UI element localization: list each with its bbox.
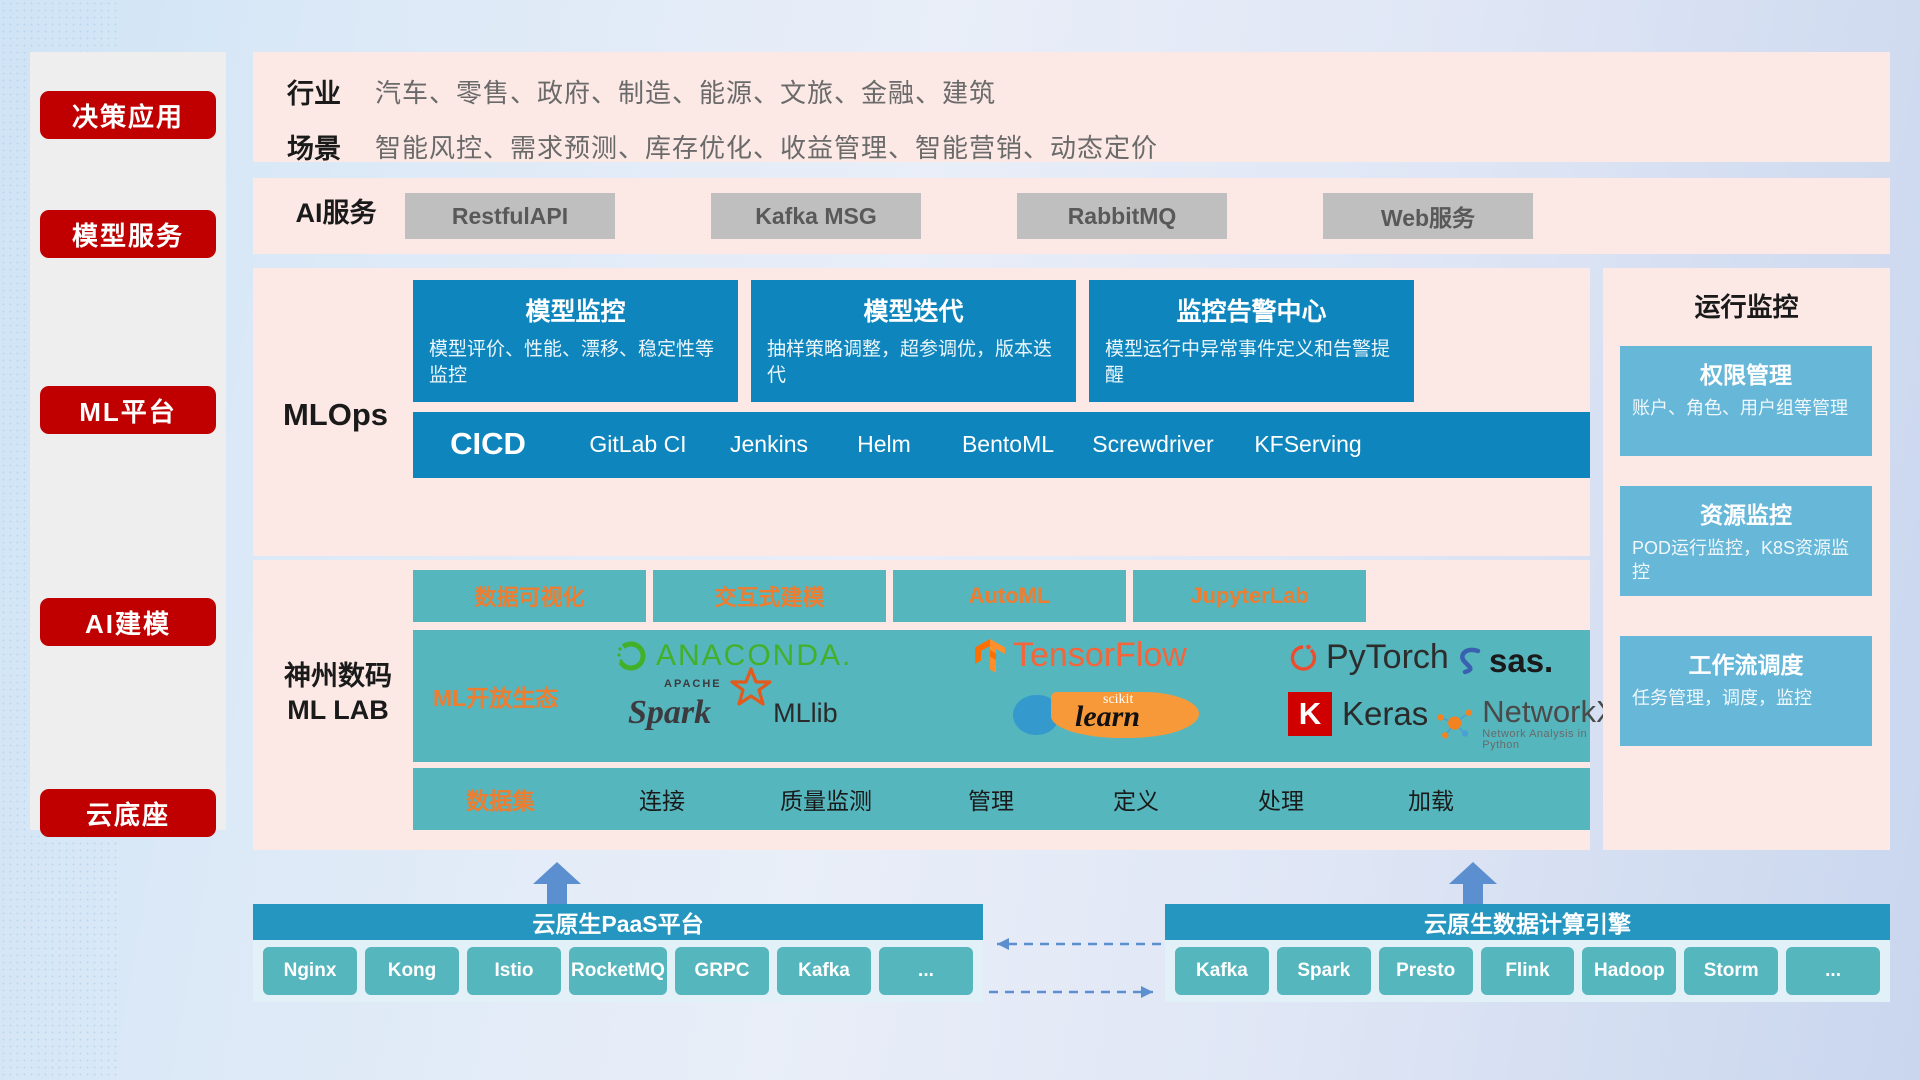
ml-lab-band: 神州数码 ML LAB 数据可视化 交互式建模 AutoML JupyterLa… (253, 560, 1590, 850)
paas-chip-grpc[interactable]: GRPC (675, 947, 769, 995)
lab-tab-automl[interactable]: AutoML (893, 570, 1126, 622)
mlops-card-model-monitoring[interactable]: 模型监控 模型评价、性能、漂移、稳定性等监控 (413, 280, 738, 402)
scenario-row-scene: 场景 智能风控、需求预测、库存优化、收益管理、智能营销、动态定价 (253, 127, 1890, 166)
lab-tab-interactive-modeling[interactable]: 交互式建模 (653, 570, 886, 622)
monitor-card-permission[interactable]: 权限管理 账户、角色、用户组等管理 (1620, 346, 1872, 456)
monitor-card-resource[interactable]: 资源监控 POD运行监控，K8S资源监控 (1620, 486, 1872, 596)
cicd-tool-jenkins[interactable]: Jenkins (713, 412, 825, 459)
mlops-card-desc: 抽样策略调整，超参调优，版本迭代 (767, 337, 1060, 388)
cicd-label: CICD (413, 412, 563, 462)
architecture-main: 行业 汽车、零售、政府、制造、能源、文旅、金融、建筑 场景 智能风控、需求预测、… (253, 0, 1890, 1080)
paas-group: 云原生PaaS平台 Nginx Kong Istio RocketMQ GRPC… (253, 904, 983, 1002)
engine-group: 云原生数据计算引擎 Kafka Spark Presto Flink Hadoo… (1165, 904, 1890, 1002)
lab-tab-jupyterlab[interactable]: JupyterLab (1133, 570, 1366, 622)
ai-chip-web[interactable]: Web服务 (1323, 193, 1533, 239)
anaconda-icon (613, 638, 649, 674)
logo-scikit-learn: scikit learn (1013, 692, 1199, 738)
stage-rail: 决策应用 模型服务 ML平台 AI建模 云底座 (30, 52, 226, 830)
networkx-graph-icon (1433, 703, 1476, 745)
paas-chip-kafka[interactable]: Kafka (777, 947, 871, 995)
mlops-card-alert-center[interactable]: 监控告警中心 模型运行中异常事件定义和告警提醒 (1089, 280, 1414, 402)
stage-chip-decision[interactable]: 决策应用 (40, 91, 216, 139)
scenario-band: 行业 汽车、零售、政府、制造、能源、文旅、金融、建筑 场景 智能风控、需求预测、… (253, 52, 1890, 162)
engine-chip-presto[interactable]: Presto (1379, 947, 1473, 995)
cicd-tool-kfserving[interactable]: KFServing (1233, 412, 1383, 459)
mlops-card-title: 监控告警中心 (1105, 292, 1398, 328)
logo-pytorch: PyTorch (1288, 638, 1449, 677)
dataset-item-load[interactable]: 加载 (1356, 782, 1506, 816)
keras-badge-icon: K (1288, 692, 1332, 736)
logo-networkx: NetworkX Network Analysis in Python (1433, 696, 1619, 751)
pytorch-wordmark: PyTorch (1326, 638, 1449, 677)
arrow-up-engine-icon (1447, 862, 1499, 904)
engine-chip-kafka[interactable]: Kafka (1175, 947, 1269, 995)
networkx-wordmark: NetworkX (1482, 696, 1619, 727)
ai-chip-restful[interactable]: RestfulAPI (405, 193, 615, 239)
learn-wordmark: learn (1075, 700, 1140, 734)
sas-icon (1453, 644, 1487, 678)
logo-tensorflow: TensorFlow (973, 636, 1187, 675)
sas-wordmark: sas. (1489, 642, 1553, 680)
monitor-title: 运行监控 (1603, 287, 1890, 324)
cicd-tool-gitlab[interactable]: GitLab CI (563, 412, 713, 459)
monitor-card-workflow[interactable]: 工作流调度 任务管理，调度，监控 (1620, 636, 1872, 746)
mlops-card-model-iteration[interactable]: 模型迭代 抽样策略调整，超参调优，版本迭代 (751, 280, 1076, 402)
ai-service-label: AI服务 (276, 197, 396, 231)
logo-sas: sas. (1453, 642, 1553, 680)
mlops-card-desc: 模型运行中异常事件定义和告警提醒 (1105, 337, 1398, 388)
lab-tab-visualization[interactable]: 数据可视化 (413, 570, 646, 622)
paas-chip-nginx[interactable]: Nginx (263, 947, 357, 995)
monitor-card-desc: 任务管理，调度，监控 (1632, 686, 1860, 710)
scenario-value-industry: 汽车、零售、政府、制造、能源、文旅、金融、建筑 (375, 73, 996, 110)
ai-chip-rabbitmq[interactable]: RabbitMQ (1017, 193, 1227, 239)
scenario-key-scene: 场景 (253, 127, 375, 166)
keras-wordmark: Keras (1342, 695, 1428, 733)
stage-chip-model-service[interactable]: 模型服务 (40, 210, 216, 258)
engine-chip-spark[interactable]: Spark (1277, 947, 1371, 995)
bidirectional-connector-icon (983, 930, 1167, 1020)
lab-open-ecosystem: ML开放生态 ANACONDA. TensorFlow (413, 630, 1590, 762)
paas-chip-istio[interactable]: Istio (467, 947, 561, 995)
dataset-label: 数据集 (413, 782, 588, 816)
dataset-item-process[interactable]: 处理 (1206, 782, 1356, 816)
paas-chip-strip: Nginx Kong Istio RocketMQ GRPC Kafka ... (253, 940, 983, 1002)
cicd-tool-screwdriver[interactable]: Screwdriver (1073, 412, 1233, 459)
lab-dataset-strip: 数据集 连接 质量监测 管理 定义 处理 加载 (413, 768, 1590, 830)
engine-chip-more[interactable]: ... (1786, 947, 1880, 995)
engine-header: 云原生数据计算引擎 (1165, 904, 1890, 940)
dataset-item-manage[interactable]: 管理 (916, 782, 1066, 816)
mlops-card-title: 模型监控 (429, 292, 722, 328)
engine-chip-storm[interactable]: Storm (1684, 947, 1778, 995)
logo-spark-mllib: APACHE Spark MLlib (628, 694, 838, 732)
engine-chip-flink[interactable]: Flink (1481, 947, 1575, 995)
spark-star-icon (730, 666, 772, 708)
mlops-card-desc: 模型评价、性能、漂移、稳定性等监控 (429, 337, 722, 388)
stage-chip-ml-platform[interactable]: ML平台 (40, 386, 216, 434)
dataset-item-quality[interactable]: 质量监测 (736, 782, 916, 816)
paas-chip-kong[interactable]: Kong (365, 947, 459, 995)
mlops-band: MLOps 模型监控 模型评价、性能、漂移、稳定性等监控 模型迭代 抽样策略调整… (253, 268, 1590, 556)
scenario-row-industry: 行业 汽车、零售、政府、制造、能源、文旅、金融、建筑 (253, 72, 1890, 111)
dataset-item-connect[interactable]: 连接 (588, 782, 736, 816)
ml-lab-label: 神州数码 ML LAB (263, 660, 413, 728)
mlops-label: MLOps (263, 396, 408, 435)
scenario-key-industry: 行业 (253, 72, 375, 111)
mlops-card-title: 模型迭代 (767, 292, 1060, 328)
pytorch-icon (1288, 641, 1318, 675)
apache-label: APACHE (664, 678, 722, 690)
lab-eco-label: ML开放生态 (433, 679, 558, 713)
networkx-tagline: Network Analysis in Python (1482, 729, 1619, 751)
monitor-card-title: 工作流调度 (1632, 646, 1860, 680)
monitor-card-title: 权限管理 (1632, 356, 1860, 390)
stage-chip-cloud-base[interactable]: 云底座 (40, 789, 216, 837)
mllib-wordmark: MLlib (773, 698, 838, 729)
engine-chip-strip: Kafka Spark Presto Flink Hadoop Storm ..… (1165, 940, 1890, 1002)
logo-keras: K Keras (1288, 692, 1428, 736)
dataset-item-define[interactable]: 定义 (1066, 782, 1206, 816)
cicd-tool-helm[interactable]: Helm (825, 412, 943, 459)
engine-chip-hadoop[interactable]: Hadoop (1582, 947, 1676, 995)
monitor-card-title: 资源监控 (1632, 496, 1860, 530)
ai-chip-kafka[interactable]: Kafka MSG (711, 193, 921, 239)
monitor-card-desc: 账户、角色、用户组等管理 (1632, 396, 1860, 420)
paas-chip-more[interactable]: ... (879, 947, 973, 995)
tensorflow-wordmark: TensorFlow (1013, 636, 1187, 675)
paas-header: 云原生PaaS平台 (253, 904, 983, 940)
monitor-panel: 运行监控 权限管理 账户、角色、用户组等管理 资源监控 POD运行监控，K8S资… (1603, 268, 1890, 850)
arrow-up-paas-icon (531, 862, 583, 904)
paas-chip-rocketmq[interactable]: RocketMQ (569, 947, 667, 995)
monitor-card-desc: POD运行监控，K8S资源监控 (1632, 536, 1860, 585)
ai-service-band: AI服务 RestfulAPI Kafka MSG RabbitMQ Web服务 (253, 178, 1890, 254)
stage-chip-ai-modeling[interactable]: AI建模 (40, 598, 216, 646)
cicd-bar: CICD GitLab CI Jenkins Helm BentoML Scre… (413, 412, 1590, 478)
spark-wordmark: Spark (628, 694, 711, 731)
cicd-tool-bentoml[interactable]: BentoML (943, 412, 1073, 459)
tensorflow-icon (973, 637, 1007, 675)
scenario-value-scene: 智能风控、需求预测、库存优化、收益管理、智能营销、动态定价 (375, 128, 1158, 165)
